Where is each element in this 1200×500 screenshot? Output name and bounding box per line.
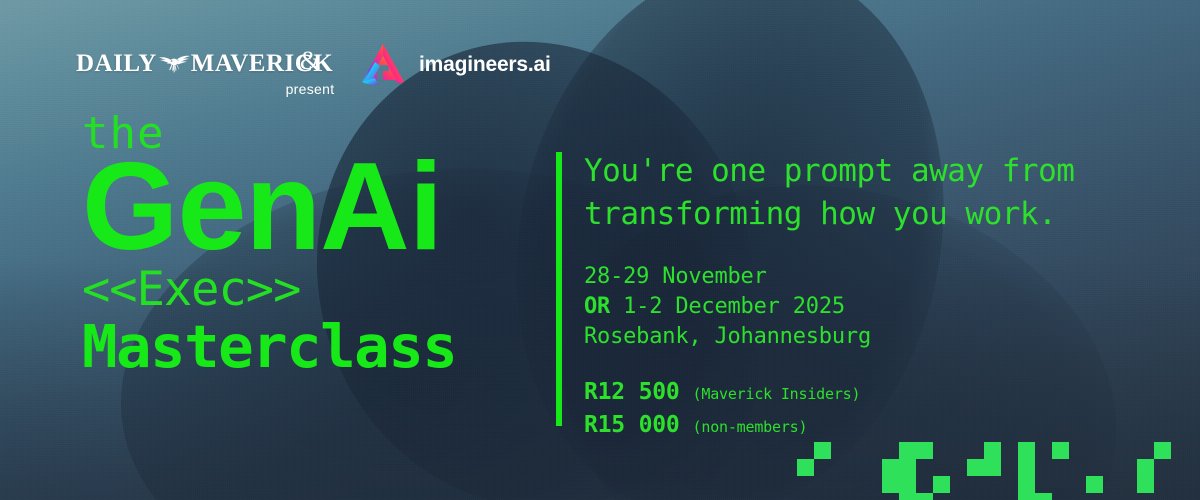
imagineers-wordmark: imagineers.ai — [419, 53, 551, 77]
pixel-block — [984, 459, 1001, 476]
date-line-text: 28-29 November — [584, 264, 767, 289]
pixel-block — [1137, 459, 1154, 476]
pixel-block — [882, 459, 899, 476]
tagline-headline: You're one prompt away from transforming… — [584, 150, 1184, 236]
pixel-block — [814, 442, 831, 459]
pixel-block — [984, 442, 1001, 459]
pixel-block — [1018, 459, 1035, 476]
pixel-block — [916, 493, 933, 500]
sponsor-header: DAILY MAVERICK — [0, 0, 1200, 115]
eagle-emblem-icon — [157, 51, 191, 77]
ampersand-symbol: & — [276, 48, 344, 74]
price-row: R12 500(Maverick Insiders) — [584, 377, 1184, 410]
price-row: R15 000(non-members) — [584, 410, 1184, 443]
title-masterclass: Masterclass — [82, 316, 456, 378]
pixel-block — [1018, 476, 1035, 493]
vertical-divider-bar — [556, 152, 562, 426]
pixel-block — [967, 459, 984, 476]
event-title-block: the GenAi <<Exec>> Masterclass — [82, 112, 456, 378]
present-block: & present — [276, 48, 344, 104]
date-line-text: 1-2 December 2025 — [610, 294, 845, 319]
pixel-block — [1137, 476, 1154, 493]
event-date-line: OR 1-2 December 2025 — [584, 292, 1184, 322]
date-line-text: Rosebank, Johannesburg — [584, 324, 871, 349]
date-line-emphasis: OR — [584, 294, 610, 319]
pixel-block — [899, 442, 916, 459]
event-date-line: Rosebank, Johannesburg — [584, 322, 1184, 352]
event-info-column: You're one prompt away from transforming… — [584, 150, 1184, 443]
pixel-block — [797, 459, 814, 476]
price-amount: R15 000 — [584, 410, 680, 441]
pixel-block — [899, 459, 916, 476]
price-amount: R12 500 — [584, 377, 680, 408]
daily-maverick-word-daily: DAILY — [76, 50, 157, 78]
present-label: present — [276, 74, 344, 104]
imagineers-triangle-logo-icon — [358, 40, 408, 90]
pixel-block — [1086, 476, 1103, 493]
pixel-block-decoration — [780, 442, 1200, 500]
pixel-block — [1018, 442, 1035, 459]
pixel-block — [916, 442, 933, 459]
title-genai: GenAi — [82, 152, 456, 262]
pixel-block — [1035, 493, 1052, 500]
pixel-block — [933, 476, 950, 493]
event-promo-banner: DAILY MAVERICK — [0, 0, 1200, 500]
price-audience-note: (Maverick Insiders) — [693, 379, 861, 410]
pixel-block — [899, 476, 916, 493]
pixel-block — [882, 476, 899, 493]
pixel-block — [1052, 442, 1069, 459]
imagineers-logo: imagineers.ai — [358, 40, 551, 90]
event-date-line: 28-29 November — [584, 262, 1184, 292]
event-pricing: R12 500(Maverick Insiders)R15 000(non-me… — [584, 377, 1184, 443]
event-dates-location: 28-29 NovemberOR 1-2 December 2025Roseba… — [584, 262, 1184, 352]
pixel-block — [899, 493, 916, 500]
pixel-block — [1018, 493, 1035, 500]
pixel-block — [1154, 442, 1171, 459]
price-audience-note: (non-members) — [693, 412, 808, 443]
